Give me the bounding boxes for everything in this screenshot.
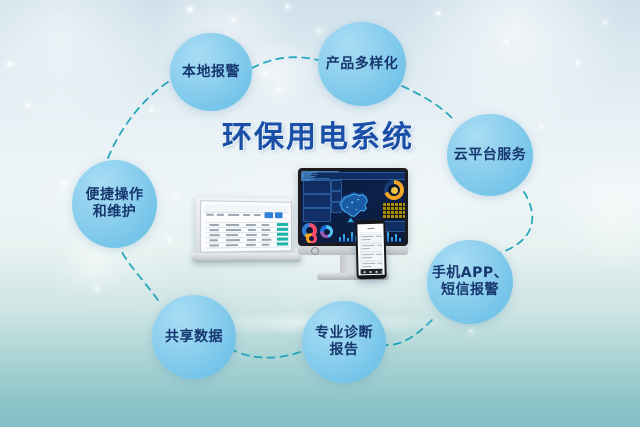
node-label-cloud-platform: 云平台服务 — [450, 147, 531, 164]
phone-bottom-nav — [361, 269, 383, 275]
nav-icon — [364, 271, 366, 273]
laptop-lid — [196, 197, 293, 255]
desktop-monitor — [298, 168, 408, 246]
node-label-diagnostic-report: 专业诊断 报告 — [311, 325, 377, 358]
monitor-screen — [301, 171, 405, 243]
laptop-status-cell — [277, 223, 288, 226]
connector-easyops-to-local — [108, 76, 178, 158]
node-product-diversity[interactable]: 产品多样化 — [318, 22, 406, 106]
laptop-status-cell — [277, 238, 288, 241]
phone-screen — [357, 224, 384, 276]
node-label-mobile-sms-alarm: 手机APP、 短信报警 — [428, 265, 512, 298]
node-cloud-platform[interactable]: 云平台服务 — [447, 114, 533, 196]
dashboard-kpi-panel — [303, 180, 331, 194]
device-group — [185, 160, 445, 320]
page-title: 环保用电系统 — [222, 112, 414, 156]
node-local-alarm[interactable]: 本地报警 — [170, 33, 252, 111]
nav-icon — [370, 270, 372, 272]
node-mobile-sms-alarm[interactable]: 手机APP、 短信报警 — [427, 240, 513, 324]
dashboard-kpi-panel — [303, 194, 331, 208]
node-label-easy-ops: 便捷操作 和维护 — [82, 187, 148, 220]
laptop-status-cell — [277, 228, 288, 231]
laptop-base — [191, 253, 302, 262]
node-label-shared-data: 共享数据 — [161, 329, 227, 346]
connector-mobile-to-report — [384, 320, 432, 345]
monitor-logo-icon — [311, 247, 319, 255]
dashboard-kpi-panel — [303, 208, 331, 222]
connector-cloud-to-mobile — [497, 192, 532, 254]
laptop-status-cell — [277, 233, 288, 236]
nav-icon — [382, 270, 384, 272]
node-shared-data[interactable]: 共享数据 — [152, 295, 236, 379]
phone-app-header — [359, 226, 381, 234]
laptop-status-cell — [277, 242, 288, 245]
node-diagnostic-report[interactable]: 专业诊断 报告 — [302, 301, 386, 383]
node-easy-ops[interactable]: 便捷操作 和维护 — [72, 160, 157, 248]
laptop-screen — [200, 200, 292, 253]
laptop-primary-button — [265, 212, 274, 218]
node-label-product-diversity: 产品多样化 — [322, 56, 403, 73]
connector-local-to-product — [252, 57, 318, 68]
laptop — [193, 198, 297, 262]
dashboard-heatmap — [383, 203, 405, 219]
smartphone — [355, 220, 387, 280]
connector-report-to-shared — [226, 345, 300, 358]
laptop-primary-button — [275, 212, 283, 218]
connector-shared-to-easyops — [120, 248, 158, 300]
node-label-local-alarm: 本地报警 — [178, 64, 244, 81]
nav-icon — [376, 270, 378, 272]
poster-canvas: 环保用电系统 本地报警产品多样化云平台服务手机APP、 短信报警专业诊断 报告共… — [0, 0, 640, 427]
